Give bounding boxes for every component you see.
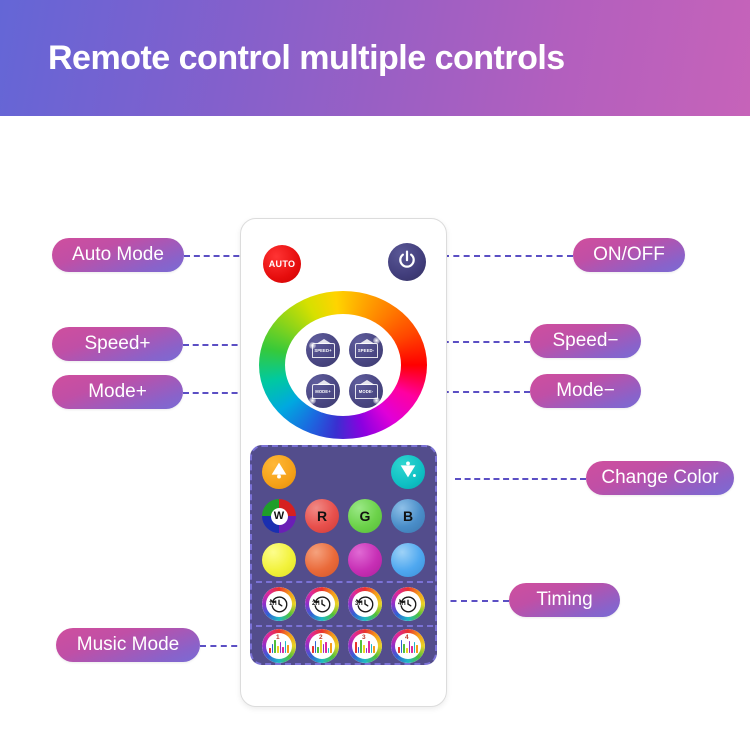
callout-speed-plus[interactable]: Speed+ xyxy=(52,327,183,361)
callout-speed-minus-label: Speed− xyxy=(552,330,618,352)
music-mode-4-label: 4 xyxy=(405,634,409,641)
color-button-lightblue[interactable] xyxy=(391,543,425,577)
mode-up-icon: MODE+ xyxy=(312,384,335,399)
brightness-up-button[interactable] xyxy=(262,455,296,489)
power-button[interactable] xyxy=(388,243,426,281)
color-button-magenta[interactable] xyxy=(348,543,382,577)
callout-music-mode-label: Music Mode xyxy=(77,634,179,656)
callout-mode-plus[interactable]: Mode+ xyxy=(52,375,183,409)
color-button-w[interactable]: W xyxy=(262,499,296,533)
timer-3h-label: 3H xyxy=(355,601,363,607)
music-mode-button-4[interactable]: 4 xyxy=(391,629,425,663)
color-wheel[interactable]: SPEED+ SPEED- MODE+ MODE- xyxy=(259,291,427,439)
timer-4h-label: 4H xyxy=(398,601,406,607)
music-mode-button-2[interactable]: 2 xyxy=(305,629,339,663)
mode-down-button[interactable]: MODE- xyxy=(349,374,383,408)
mode-up-button[interactable]: MODE+ xyxy=(306,374,340,408)
leader-timing xyxy=(440,600,509,602)
callout-change-color-label: Change Color xyxy=(601,467,718,489)
panel-divider-music xyxy=(256,625,433,627)
speed-down-button[interactable]: SPEED- xyxy=(349,333,383,367)
power-icon xyxy=(396,249,418,276)
green-color-icon: G xyxy=(360,508,371,524)
brightness-up-icon xyxy=(268,459,290,486)
music-mode-button-1[interactable]: 1 xyxy=(262,629,296,663)
timer-button-3h[interactable]: 3H xyxy=(348,587,382,621)
callout-speed-plus-label: Speed+ xyxy=(84,333,150,355)
remote-control-body: AUTO SPEED+ SPEED- MODE+ MODE- xyxy=(240,218,447,707)
function-panel: W R G B xyxy=(250,445,437,665)
color-button-b[interactable]: B xyxy=(391,499,425,533)
callout-auto-mode[interactable]: Auto Mode xyxy=(52,238,184,272)
blue-color-icon: B xyxy=(403,508,413,524)
timer-2h-label: 2H xyxy=(312,601,320,607)
auto-button[interactable]: AUTO xyxy=(263,245,301,283)
callout-music-mode[interactable]: Music Mode xyxy=(56,628,200,662)
panel-divider-timers xyxy=(256,581,433,583)
timer-button-4h[interactable]: 4H xyxy=(391,587,425,621)
leader-on-off xyxy=(443,255,573,257)
auto-text-icon: AUTO xyxy=(269,259,296,269)
color-wheel-center xyxy=(285,314,401,416)
callout-auto-mode-label: Auto Mode xyxy=(72,244,164,266)
callout-on-off[interactable]: ON/OFF xyxy=(573,238,685,272)
leader-change-color xyxy=(455,478,586,480)
speed-up-icon: SPEED+ xyxy=(312,343,335,358)
color-button-yellow[interactable] xyxy=(262,543,296,577)
callout-change-color[interactable]: Change Color xyxy=(586,461,734,495)
callout-mode-minus-label: Mode− xyxy=(556,380,615,402)
brightness-down-button[interactable] xyxy=(391,455,425,489)
white-color-icon: W xyxy=(271,508,288,525)
timer-1h-label: 1H xyxy=(269,601,277,607)
timer-button-1h[interactable]: 1H xyxy=(262,587,296,621)
callout-on-off-label: ON/OFF xyxy=(593,244,665,266)
callout-speed-minus[interactable]: Speed− xyxy=(530,324,641,358)
music-mode-3-label: 3 xyxy=(362,634,366,641)
callout-timing[interactable]: Timing xyxy=(509,583,620,617)
music-mode-1-label: 1 xyxy=(276,634,280,641)
music-mode-button-3[interactable]: 3 xyxy=(348,629,382,663)
color-button-r[interactable]: R xyxy=(305,499,339,533)
callout-mode-plus-label: Mode+ xyxy=(88,381,147,403)
speed-down-icon: SPEED- xyxy=(355,343,378,358)
callout-timing-label: Timing xyxy=(536,589,592,611)
brightness-down-icon xyxy=(397,459,419,486)
mode-down-icon: MODE- xyxy=(355,384,378,399)
speed-up-button[interactable]: SPEED+ xyxy=(306,333,340,367)
callout-mode-minus[interactable]: Mode− xyxy=(530,374,641,408)
timer-button-2h[interactable]: 2H xyxy=(305,587,339,621)
page-title: Remote control multiple controls xyxy=(48,39,565,78)
page-header: Remote control multiple controls xyxy=(0,0,750,116)
music-mode-2-label: 2 xyxy=(319,634,323,641)
color-button-orange[interactable] xyxy=(305,543,339,577)
color-button-g[interactable]: G xyxy=(348,499,382,533)
red-color-icon: R xyxy=(317,508,327,524)
